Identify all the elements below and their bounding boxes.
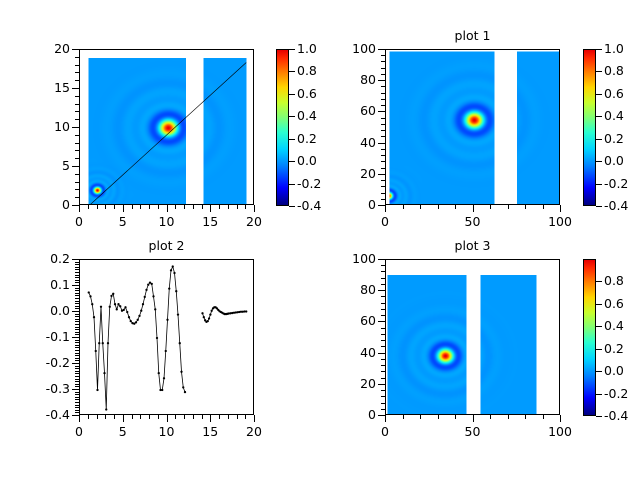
panel-bottom-right: plot 3050100020406080100-0.4-0.20.00.20.… [0,0,640,480]
colorbar-tick [596,371,602,372]
panel-bottom-right-colorbar-gradient [584,260,595,415]
y-tick-label: 80 [322,282,376,297]
panel-bottom-right-image [386,260,560,415]
y-minor-tick [381,346,385,347]
colorbar-tick [596,349,602,350]
x-tick-label: 100 [535,424,585,439]
panel-bottom-right-colorbar [583,259,596,416]
x-minor-tick [403,415,404,419]
x-minor-tick [543,415,544,419]
y-major-tick [378,321,385,322]
y-tick-label: 40 [322,345,376,360]
y-minor-tick [381,328,385,329]
y-tick-label: 20 [322,376,376,391]
y-tick-label: 0 [322,407,376,422]
y-minor-tick [381,409,385,410]
y-minor-tick [381,403,385,404]
colorbar-tick [596,281,602,282]
y-tick-label: 100 [322,251,376,266]
colorbar-tick-label: 0.0 [604,363,624,378]
y-major-tick [378,259,385,260]
y-minor-tick [381,296,385,297]
x-major-tick [385,415,386,422]
colorbar-tick [596,304,602,305]
x-minor-tick [525,415,526,419]
y-minor-tick [381,278,385,279]
colorbar-tick [596,326,602,327]
x-minor-tick [508,415,509,419]
panel-bottom-right-axes [385,259,560,415]
colorbar-tick-label: 0.6 [604,296,624,311]
x-major-tick [560,415,561,422]
y-minor-tick [381,396,385,397]
y-minor-tick [381,309,385,310]
colorbar-tick-label: 0.2 [604,341,624,356]
y-minor-tick [381,303,385,304]
y-minor-tick [381,378,385,379]
colorbar-tick-label: -0.2 [604,386,628,401]
y-minor-tick [381,265,385,266]
x-minor-tick [438,415,439,419]
x-tick-label: 50 [448,424,498,439]
y-minor-tick [381,334,385,335]
colorbar-tick-label: 0.4 [604,318,624,333]
colorbar-tick-label: 0.8 [604,273,624,288]
y-minor-tick [381,371,385,372]
x-tick-label: 0 [360,424,410,439]
x-major-tick [473,415,474,422]
y-minor-tick [381,284,385,285]
x-minor-tick [420,415,421,419]
y-major-tick [378,353,385,354]
colorbar-tick-label: -0.4 [604,408,628,423]
y-minor-tick [381,390,385,391]
y-tick-label: 60 [322,313,376,328]
x-minor-tick [490,415,491,419]
y-minor-tick [381,271,385,272]
x-minor-tick [455,415,456,419]
y-minor-tick [381,315,385,316]
colorbar-tick [596,394,602,395]
y-minor-tick [381,340,385,341]
y-major-tick [378,415,385,416]
colorbar-tick [596,416,602,417]
figure-canvas: 0510152005101520-0.4-0.20.00.20.40.60.81… [0,0,640,480]
y-major-tick [378,290,385,291]
panel-bottom-right-title: plot 3 [385,238,560,253]
y-major-tick [378,384,385,385]
y-minor-tick [381,365,385,366]
y-minor-tick [381,359,385,360]
